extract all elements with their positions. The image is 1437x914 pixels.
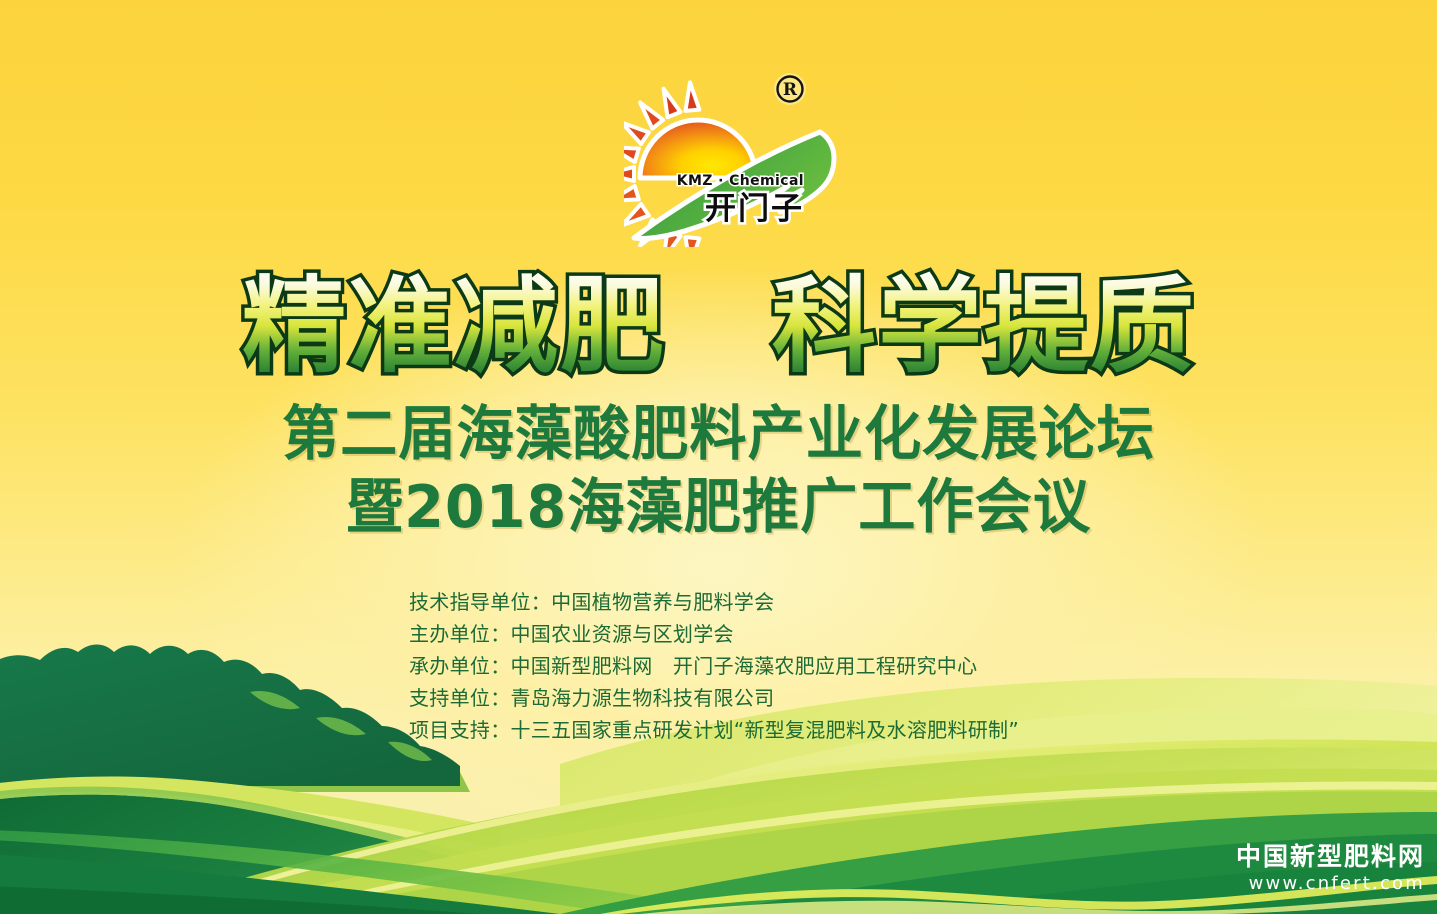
site-watermark: 中国新型肥料网 www.cnfert.com bbox=[1236, 842, 1425, 896]
credit-line-co-organizer: 承办单位：中国新型肥料网 开门子海藻农肥应用工程研究中心 bbox=[409, 650, 1169, 682]
credit-line-project-support: 项目支持：十三五国家重点研发计划“新型复混肥料及水溶肥料研制” bbox=[409, 714, 1169, 746]
credit-line-technical-guidance: 技术指导单位：中国植物营养与肥料学会 bbox=[409, 586, 1169, 618]
subtitle-line-2: 暨2018海藻肥推广工作会议 bbox=[22, 470, 1416, 544]
credit-line-organizer: 主办单位：中国农业资源与区划学会 bbox=[409, 618, 1169, 650]
logo-chinese-text: 开门子 bbox=[705, 191, 804, 227]
poster-headline: 精准减肥 科学提质 bbox=[0, 262, 1437, 392]
kaimenzi-logo: R KMZ · Chemical 开门子 bbox=[624, 62, 844, 247]
svg-text:R: R bbox=[783, 80, 798, 100]
poster-subtitles: 第二届海藻酸肥料产业化发展论坛 暨2018海藻肥推广工作会议 bbox=[0, 398, 1437, 544]
subtitle-line-1: 第二届海藻酸肥料产业化发展论坛 bbox=[22, 398, 1416, 470]
credit-line-supporter: 支持单位：青岛海力源生物科技有限公司 bbox=[409, 682, 1169, 714]
watermark-url: www.cnfert.com bbox=[1236, 872, 1425, 896]
mountain-ridge bbox=[0, 645, 460, 787]
conference-poster: R KMZ · Chemical 开门子 精准减肥 科学提质 bbox=[0, 0, 1437, 914]
watermark-site-name: 中国新型肥料网 bbox=[1236, 842, 1425, 872]
logo-latin-text: KMZ · Chemical bbox=[677, 173, 804, 189]
headline-text: 精准减肥 科学提质 bbox=[241, 265, 1195, 387]
credits-block: 技术指导单位：中国植物营养与肥料学会 主办单位：中国农业资源与区划学会 承办单位… bbox=[409, 586, 1169, 746]
registered-trademark-icon: R bbox=[774, 73, 806, 105]
